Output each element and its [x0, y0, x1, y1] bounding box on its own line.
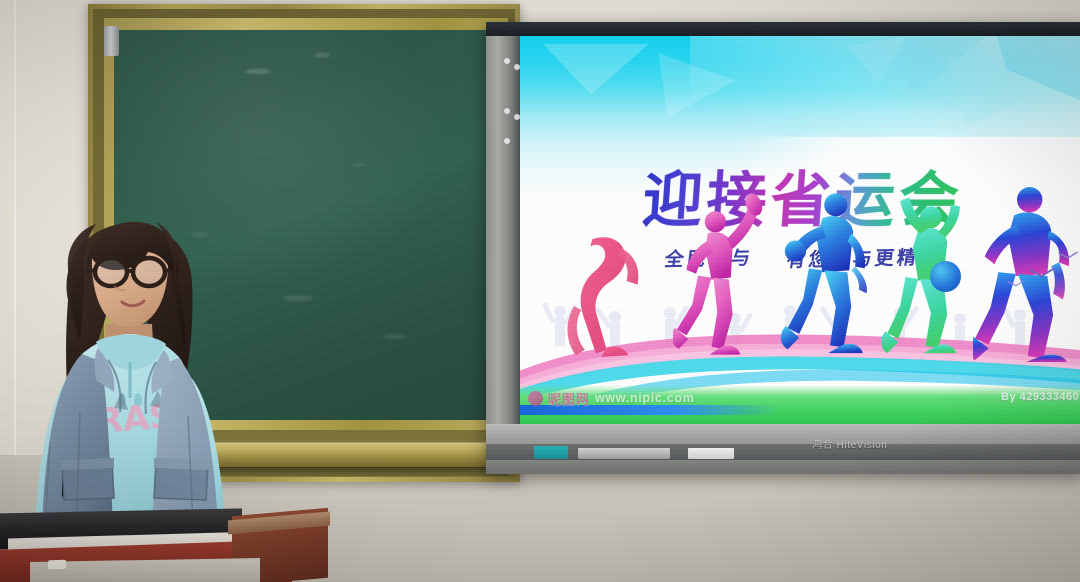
watermark-url: www.nipic.com: [595, 391, 695, 405]
display-spec-label: [688, 448, 734, 459]
poster-watermark-left: 昵图网 www.nipic.com: [528, 389, 695, 408]
athlete-gymnast-silhouette: [565, 214, 656, 377]
bird-icon: [1029, 265, 1057, 284]
display-brand-label: 鸿合 HiteVision: [812, 436, 930, 452]
display-left-bezel: [486, 22, 520, 474]
ir-sensor-dot: [504, 138, 510, 144]
chalk-piece: [48, 560, 66, 570]
watermark-site-name: 昵图网: [548, 389, 590, 408]
watermark-logo-icon: [528, 391, 543, 406]
bird-icon: [1007, 277, 1027, 293]
athlete-basketball-silhouette: [780, 152, 876, 385]
decorative-polygons: [848, 36, 1080, 160]
bird-icon: [1058, 249, 1080, 265]
display-power-indicator[interactable]: [534, 446, 568, 459]
decorative-polygons-left: [543, 44, 735, 145]
poster-credit: By 429333460: [1001, 391, 1079, 403]
student-vest-pocket-flap-right: [154, 458, 210, 470]
athlete-badminton-silhouette: [673, 168, 769, 385]
display-top-bezel: [486, 22, 1080, 36]
display-bottom-strip: [486, 444, 1080, 460]
display-control-panel[interactable]: [578, 448, 670, 459]
ir-sensor-dot: [504, 108, 510, 114]
blackboard-hinge: [104, 26, 119, 56]
display-screen[interactable]: 迎接省运会 全民参与 有您参与更精彩: [520, 36, 1080, 424]
sports-meet-poster: 迎接省运会 全民参与 有您参与更精彩: [520, 36, 1080, 424]
athlete-running-silhouette: [973, 145, 1080, 393]
ir-sensor-dot: [504, 58, 510, 64]
classroom-photo-scene: 迎接省运会 全民参与 有您参与更精彩: [0, 0, 1080, 582]
student-vest-pocket-flap-left: [60, 458, 114, 470]
